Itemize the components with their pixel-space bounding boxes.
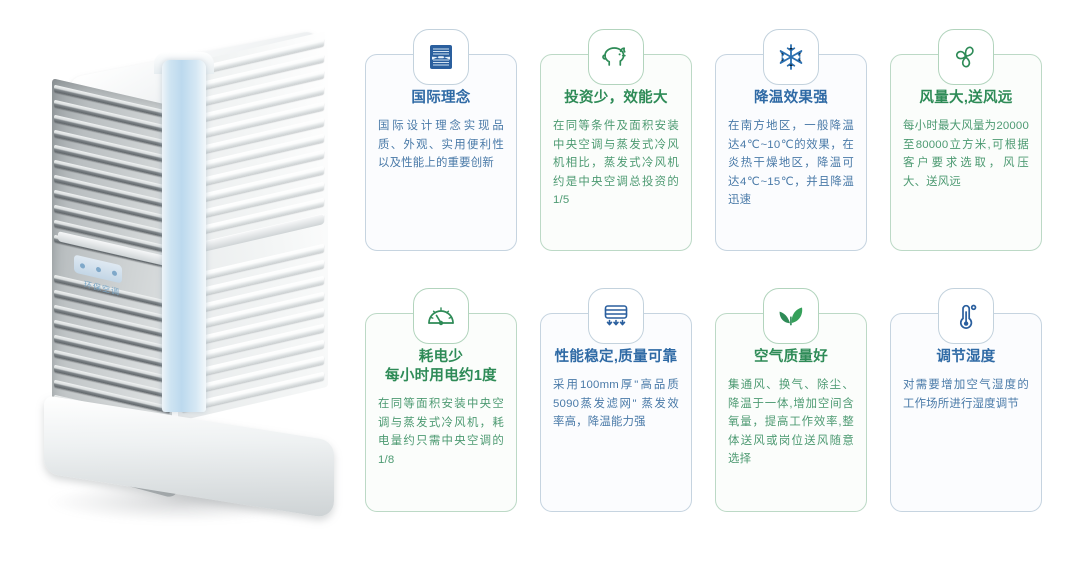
feature-body: 在同等条件及面积安装中央空调与蒸发式冷风机相比，蒸发式冷风机约是中央空调总投资的… [553,117,679,209]
globe-grille-icon [413,29,469,85]
poster-stage: 环保空调 [0,0,1080,570]
piggy-bank-icon [588,29,644,85]
thermometer-icon [938,288,994,344]
product-image-pane: 环保空调 [0,0,360,570]
feature-card-large-airflow[interactable]: 风量大,送风远 每小时最大风量为20000至80000立方米,可根据客户要求选取… [890,54,1042,251]
feature-card-strong-cooling[interactable]: 降温效果强 在南方地区，一般降温达4℃~10℃的效果，在炎热干燥地区，降温可达4… [715,54,867,251]
feature-body: 集通风、换气、除尘、降温于一体,增加空间含氧量，提高工作效率,整体送风或岗位送风… [728,376,854,468]
snowflake-icon [763,29,819,85]
feature-card-air-quality[interactable]: 空气质量好 集通风、换气、除尘、降温于一体,增加空间含氧量，提高工作效率,整体送… [715,313,867,512]
feature-title: 风量大,送风远 [903,89,1029,108]
evaporative-air-cooler-illustration: 环保空调 [28,30,338,540]
air-conditioner-icon [588,288,644,344]
feature-title: 投资少，效能大 [553,89,679,108]
feature-title: 性能稳定,质量可靠 [553,348,679,367]
feature-title: 国际理念 [378,89,504,108]
feature-card-grid: 国际理念 国际设计理念实现品质、外观、实用便利性以及性能上的重要创新 投资少，效… [358,0,1080,570]
feature-card-low-power[interactable]: 耗电少 每小时用电约1度 在同等面积安装中央空调与蒸发式冷风机，耗电量约只需中央… [365,313,517,512]
feature-body: 在同等面积安装中央空调与蒸发式冷风机，耗电量约只需中央空调的1/8 [378,395,504,469]
feature-body: 国际设计理念实现品质、外观、实用便利性以及性能上的重要创新 [378,117,504,172]
product-center-column [162,60,206,412]
feature-body: 对需要增加空气湿度的工作场所进行湿度调节 [903,376,1029,413]
fan-blades-icon [938,29,994,85]
feature-title: 降温效果强 [728,89,854,108]
feature-card-stable-performance[interactable]: 性能稳定,质量可靠 采用100mm厚"高品质5090蒸发滤网" 蒸发效率高，降温… [540,313,692,512]
gauge-meter-icon [413,288,469,344]
feature-title: 耗电少 每小时用电约1度 [378,348,504,386]
feature-card-humidity-control[interactable]: 调节湿度 对需要增加空气湿度的工作场所进行湿度调节 [890,313,1042,512]
feature-body: 在南方地区，一般降温达4℃~10℃的效果，在炎热干燥地区，降温可达4℃~15℃，… [728,117,854,209]
feature-title: 调节湿度 [903,348,1029,367]
leaf-sprout-icon [763,288,819,344]
feature-body: 采用100mm厚"高品质5090蒸发滤网" 蒸发效率高，降温能力强 [553,376,679,431]
feature-card-low-investment[interactable]: 投资少，效能大 在同等条件及面积安装中央空调与蒸发式冷风机相比，蒸发式冷风机约是… [540,54,692,251]
feature-body: 每小时最大风量为20000至80000立方米,可根据客户要求选取，风压大、送风远 [903,117,1029,191]
feature-title: 空气质量好 [728,348,854,367]
feature-card-international-concept[interactable]: 国际理念 国际设计理念实现品质、外观、实用便利性以及性能上的重要创新 [365,54,517,251]
